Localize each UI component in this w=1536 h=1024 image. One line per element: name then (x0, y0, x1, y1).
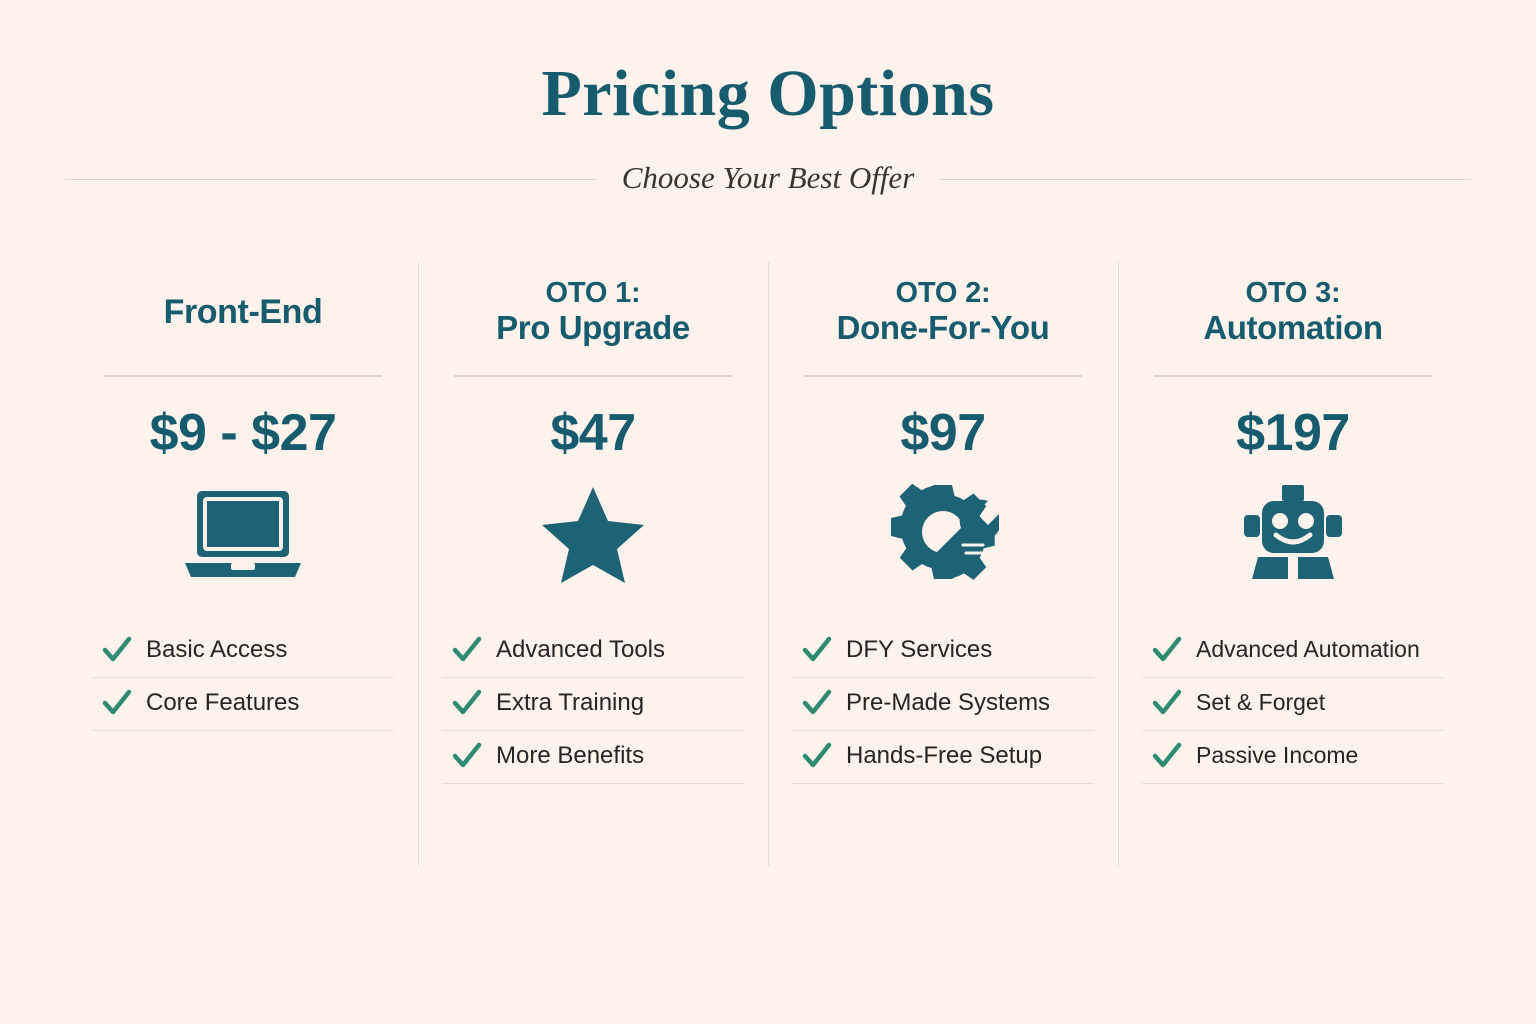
pricing-column-oto-2[interactable]: OTO 2: Done-For-You $97 (768, 262, 1118, 866)
feature-label: Advanced Automation (1196, 637, 1420, 662)
check-icon (452, 635, 482, 665)
feature-list: Advanced Automation Set & Forget Passive… (1142, 625, 1444, 784)
column-price: $197 (1142, 407, 1444, 459)
page-title: Pricing Options (0, 58, 1536, 131)
list-item[interactable]: Pre-Made Systems (792, 678, 1094, 731)
column-title: OTO 2: Done-For-You (792, 262, 1094, 362)
list-item[interactable]: More Benefits (442, 731, 744, 784)
list-item[interactable]: Core Features (92, 678, 394, 731)
page-header: Pricing Options Choose Your Best Offer (0, 0, 1536, 250)
list-item[interactable]: DFY Services (792, 625, 1094, 678)
check-icon (1152, 635, 1182, 665)
column-price: $47 (442, 407, 744, 459)
column-title-line1: OTO 3: (1246, 277, 1341, 309)
column-title-line2: Pro Upgrade (496, 310, 690, 347)
column-title-divider (454, 375, 732, 377)
check-icon (802, 741, 832, 771)
feature-label: DFY Services (846, 637, 992, 663)
check-icon (802, 635, 832, 665)
list-item[interactable]: Hands-Free Setup (792, 731, 1094, 784)
subtitle-rule-left (65, 179, 596, 180)
pricing-page: Pricing Options Choose Your Best Offer F… (0, 0, 1536, 1024)
feature-list: DFY Services Pre-Made Systems Hands-Free… (792, 625, 1094, 784)
pricing-columns: Front-End $9 - $27 Basic Access (68, 262, 1468, 866)
feature-label: Advanced Tools (496, 637, 665, 663)
check-icon (452, 741, 482, 771)
feature-label: Hands-Free Setup (846, 743, 1042, 769)
check-icon (102, 635, 132, 665)
column-price: $9 - $27 (92, 407, 394, 459)
column-title-line2: Done-For-You (837, 310, 1050, 347)
feature-label: Pre-Made Systems (846, 690, 1050, 716)
list-item[interactable]: Basic Access (92, 625, 394, 678)
subtitle-row: Choose Your Best Offer (65, 158, 1471, 200)
column-title-line1: OTO 2: (896, 277, 991, 309)
pricing-column-front-end[interactable]: Front-End $9 - $27 Basic Access (68, 262, 418, 866)
column-title-divider (104, 375, 382, 377)
column-title-line2: Automation (1203, 310, 1382, 347)
feature-list: Basic Access Core Features (92, 625, 394, 731)
page-subtitle: Choose Your Best Offer (596, 162, 941, 193)
laptop-icon (92, 481, 394, 585)
feature-label: Core Features (146, 690, 299, 716)
column-title: OTO 3: Automation (1142, 262, 1444, 362)
pricing-column-oto-3[interactable]: OTO 3: Automation $197 (1118, 262, 1468, 866)
check-icon (1152, 688, 1182, 718)
column-title: Front-End (92, 262, 394, 362)
feature-label: Passive Income (1196, 743, 1358, 768)
list-item[interactable]: Advanced Automation (1142, 625, 1444, 678)
pricing-column-oto-1[interactable]: OTO 1: Pro Upgrade $47 Advanced Tools (418, 262, 768, 866)
feature-label: More Benefits (496, 743, 644, 769)
list-item[interactable]: Set & Forget (1142, 678, 1444, 731)
check-icon (1152, 741, 1182, 771)
column-title-line2: Front-End (164, 293, 323, 331)
column-title-divider (1154, 375, 1432, 377)
list-item[interactable]: Passive Income (1142, 731, 1444, 784)
feature-label: Basic Access (146, 637, 287, 663)
check-icon (802, 688, 832, 718)
robot-icon (1142, 481, 1444, 585)
star-icon (442, 481, 744, 585)
feature-label: Extra Training (496, 690, 644, 716)
column-title-divider (804, 375, 1082, 377)
feature-label: Set & Forget (1196, 690, 1325, 715)
column-price: $97 (792, 407, 1094, 459)
check-icon (452, 688, 482, 718)
column-title: OTO 1: Pro Upgrade (442, 262, 744, 362)
subtitle-rule-right (940, 179, 1471, 180)
list-item[interactable]: Extra Training (442, 678, 744, 731)
feature-list: Advanced Tools Extra Training More Benef… (442, 625, 744, 784)
check-icon (102, 688, 132, 718)
column-title-line1: OTO 1: (546, 277, 641, 309)
list-item[interactable]: Advanced Tools (442, 625, 744, 678)
gear-wrench-icon (792, 481, 1094, 585)
